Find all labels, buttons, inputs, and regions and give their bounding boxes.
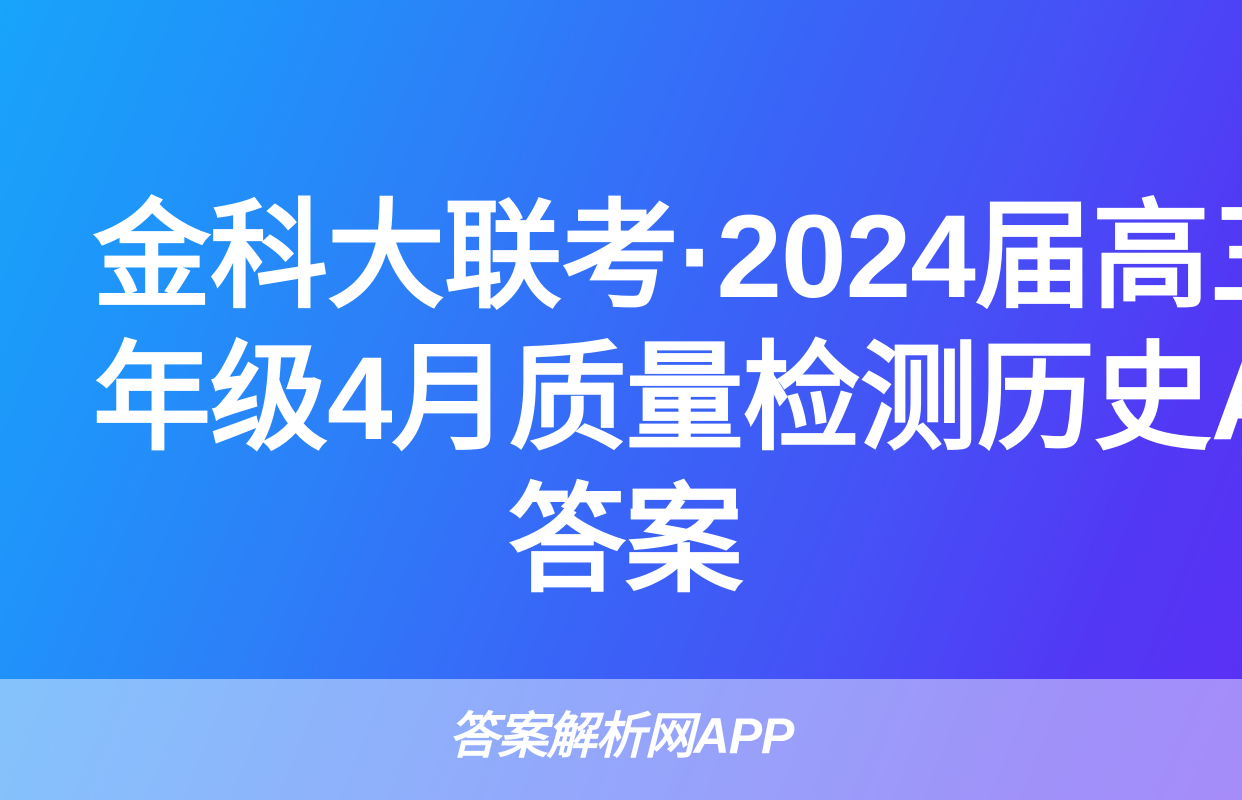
title-char: 4 bbox=[327, 328, 392, 470]
title-char: 史 bbox=[1094, 328, 1211, 470]
title-char: A bbox=[1211, 328, 1242, 470]
title-line-3: 答案 bbox=[93, 470, 1157, 612]
title-char: 考 bbox=[561, 186, 678, 328]
title-char: 大 bbox=[327, 186, 444, 328]
watermark-label: 答案解析网APP bbox=[0, 704, 1242, 768]
title-char: 0 bbox=[781, 186, 846, 328]
title-separator-dot: · bbox=[678, 186, 716, 328]
title-char: 高 bbox=[1092, 186, 1209, 328]
title-char: 级 bbox=[210, 328, 327, 470]
poster-canvas: 金 科 大 联 考 · 2 0 2 4 届 高 三 年 级 4 月 质 量 检 … bbox=[0, 0, 1242, 800]
title-char: 联 bbox=[444, 186, 561, 328]
title-char: 金 bbox=[93, 186, 210, 328]
title-line-1: 金 科 大 联 考 · 2 0 2 4 届 高 三 bbox=[93, 186, 1157, 328]
title-char: 量 bbox=[626, 328, 743, 470]
title-char: 月 bbox=[392, 328, 509, 470]
title-line-2: 年 级 4 月 质 量 检 测 历 史 A bbox=[93, 328, 1157, 470]
title-char: 4 bbox=[910, 186, 975, 328]
title-char: 三 bbox=[1209, 186, 1242, 328]
title-char: 测 bbox=[860, 328, 977, 470]
title-char: 历 bbox=[977, 328, 1094, 470]
title-char: 2 bbox=[846, 186, 911, 328]
title-char: 年 bbox=[93, 328, 210, 470]
title-char: 2 bbox=[716, 186, 781, 328]
title-char: 检 bbox=[743, 328, 860, 470]
title-char: 届 bbox=[975, 186, 1092, 328]
page-title: 金 科 大 联 考 · 2 0 2 4 届 高 三 年 级 4 月 质 量 检 … bbox=[93, 186, 1157, 612]
title-char: 质 bbox=[509, 328, 626, 470]
title-char: 科 bbox=[210, 186, 327, 328]
